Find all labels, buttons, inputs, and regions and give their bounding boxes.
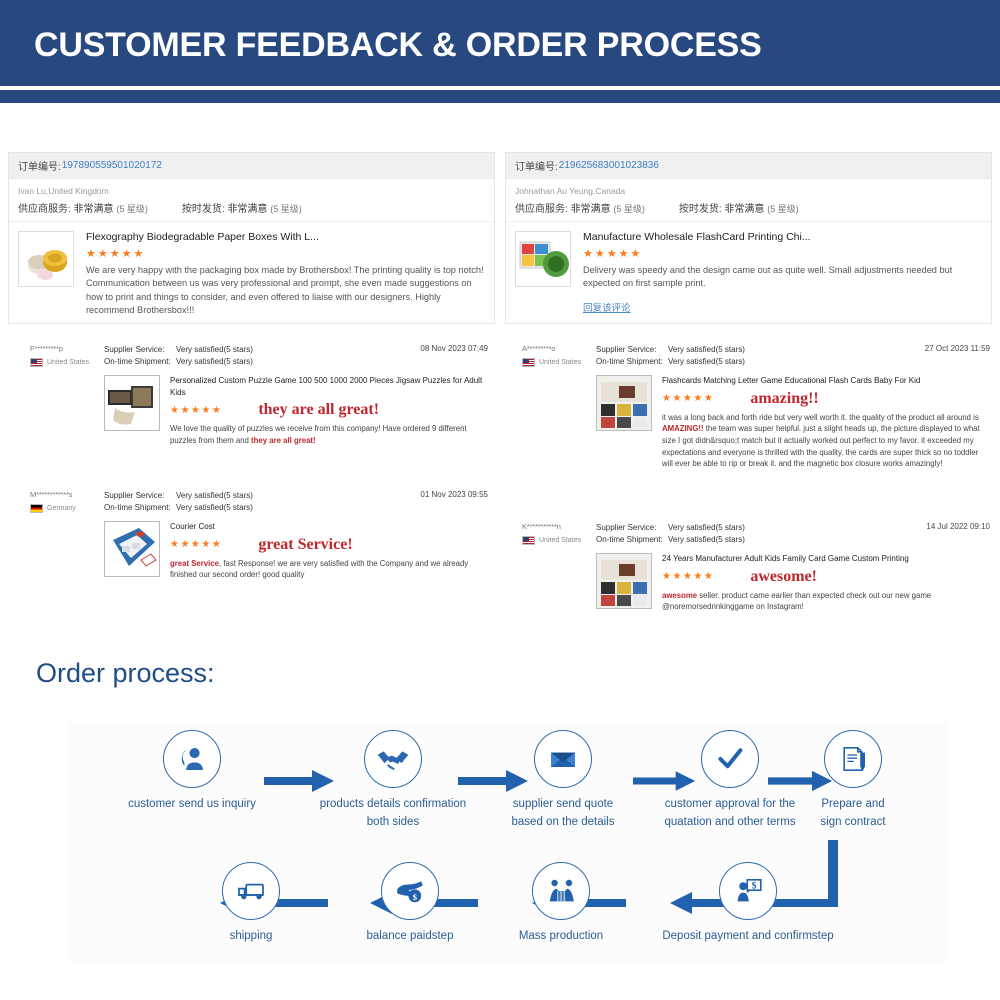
- review-body-highlight: great Service: [170, 559, 219, 568]
- review-headline: awesome!: [750, 568, 817, 586]
- product-title[interactable]: 24 Years Manufacturer Adult Kids Family …: [662, 553, 990, 565]
- process-step-label: Prepare and sign contract: [773, 795, 933, 832]
- on-time-shipment-label: On-time Shipment:: [104, 356, 176, 368]
- order-review-panel: 订单编号: 197890559501020172 Ivan Lu,United …: [8, 152, 495, 324]
- hand-money-icon: $: [381, 862, 439, 920]
- review-text: We are very happy with the packaging box…: [86, 264, 485, 317]
- process-step-label: products details confirmation both sides: [298, 795, 488, 832]
- on-time-shipment-value: 非常满意: [724, 204, 764, 215]
- flag-icon-de: [30, 504, 43, 513]
- reviewer-username: K***********n: [522, 522, 596, 531]
- supplier-service-label: Supplier Service:: [104, 344, 176, 356]
- svg-text:$: $: [752, 881, 757, 892]
- reviewer-username: A*********o: [522, 344, 596, 353]
- panel-meta: Ivan Lu,United Kingdom 供应商服务: 非常满意 (5 星级…: [9, 179, 494, 222]
- review-body-highlight: awesome: [662, 591, 697, 600]
- product-title[interactable]: Flashcards Matching Letter Game Educatio…: [662, 375, 990, 387]
- rating-stars: ★★★★★: [170, 405, 222, 416]
- review-headline: they are all great!: [258, 401, 379, 419]
- on-time-shipment-rating: 按时发货: 非常满意 (5 星级): [679, 200, 799, 215]
- supplier-service-label: Supplier Service:: [596, 344, 668, 356]
- reviewer-name: Johnathan Au Yeung,Canada: [515, 186, 982, 196]
- review-body: great Service, fast Response! we are ver…: [170, 558, 488, 581]
- supplier-service-label: 供应商服务:: [18, 204, 71, 215]
- product-thumbnail[interactable]: [515, 231, 571, 287]
- process-step-label: balance paidstep: [340, 927, 480, 945]
- order-process-title: Order process:: [36, 658, 215, 689]
- review-body: it was a long back and forth ride but ve…: [662, 412, 990, 470]
- review-card: M************s Germany Supplier Service:…: [8, 490, 488, 581]
- rating-labels: Supplier Service: On-time Shipment:: [596, 344, 668, 368]
- reviewer-username: F*********p: [30, 344, 104, 353]
- product-thumbnail[interactable]: [596, 553, 652, 609]
- supplier-service-label: Supplier Service:: [104, 490, 176, 502]
- process-step-3[interactable]: supplier send quote based on the details: [478, 730, 648, 832]
- on-time-shipment-value: Very satisfied(5 stars): [668, 356, 925, 368]
- order-number-header: 订单编号: 219625683001023836: [506, 153, 991, 179]
- factory-production-icon: [532, 862, 590, 920]
- rating-labels: Supplier Service: On-time Shipment:: [104, 490, 176, 514]
- process-step-label: shipping: [186, 927, 316, 945]
- reviewer-block: K***********n United States: [500, 522, 596, 546]
- deposit-payment-icon: $: [719, 862, 777, 920]
- review-card: A*********o United States Supplier Servi…: [500, 344, 990, 470]
- rating-labels: Supplier Service: On-time Shipment:: [104, 344, 176, 368]
- on-time-shipment-value: Very satisfied(5 stars): [176, 502, 420, 514]
- reviewer-block: M************s Germany: [8, 490, 104, 514]
- reviewer-country: Germany: [47, 505, 76, 512]
- rating-stars: ★★★★★: [662, 571, 714, 582]
- reviewer-name: Ivan Lu,United Kingdom: [18, 186, 485, 196]
- on-time-shipment-rating: 按时发货: 非常满意 (5 星级): [182, 200, 302, 215]
- rating-stars: ★★★★★: [86, 247, 485, 260]
- on-time-shipment-label: On-time Shipment:: [596, 534, 668, 546]
- rating-stars: ★★★★★: [583, 247, 982, 260]
- process-step-label: Deposit payment and confirmstep: [633, 927, 863, 945]
- customer-support-icon: [163, 730, 221, 788]
- review-body-highlight: they are all great!: [251, 436, 316, 445]
- on-time-shipment-label: 按时发货:: [679, 204, 722, 215]
- review-body-post: seller. product came earlier than expect…: [662, 591, 931, 612]
- review-date: 08 Nov 2023 07:49: [420, 344, 488, 368]
- review-body-post: the team was super helpful. just a sligh…: [662, 424, 980, 468]
- rating-stars: ★★★★★: [170, 539, 222, 550]
- on-time-shipment-value: 非常满意: [227, 204, 267, 215]
- product-title[interactable]: Courier Cost: [170, 521, 488, 533]
- rating-values: Very satisfied(5 stars) Very satisfied(5…: [668, 344, 925, 368]
- supplier-service-value: 非常满意: [571, 204, 611, 215]
- on-time-shipment-label: On-time Shipment:: [104, 502, 176, 514]
- envelope-icon: [534, 730, 592, 788]
- product-thumbnail[interactable]: [104, 521, 160, 577]
- process-step-1[interactable]: customer send us inquiry: [112, 730, 272, 813]
- review-body-highlight: AMAZING!!: [662, 424, 704, 433]
- flag-icon-us: [522, 536, 535, 545]
- supplier-service-value: Very satisfied(5 stars): [176, 344, 420, 356]
- reviewer-country: United States: [539, 359, 581, 366]
- process-step-label: customer send us inquiry: [112, 795, 272, 813]
- review-date: 14 Jul 2022 09:10: [926, 522, 990, 546]
- svg-text:$: $: [413, 892, 418, 902]
- review-headline: great Service!: [258, 536, 352, 554]
- order-number-label: 订单编号:: [18, 158, 61, 173]
- order-review-panel: 订单编号: 219625683001023836 Johnathan Au Ye…: [505, 152, 992, 324]
- checkmark-icon: [701, 730, 759, 788]
- process-step-5[interactable]: Prepare and sign contract: [773, 730, 933, 832]
- on-time-shipment-label: On-time Shipment:: [596, 356, 668, 368]
- rating-labels: Supplier Service: On-time Shipment:: [596, 522, 668, 546]
- on-time-shipment-value: Very satisfied(5 stars): [176, 356, 420, 368]
- truck-icon: [222, 862, 280, 920]
- review-date: 01 Nov 2023 09:55: [420, 490, 488, 514]
- reviewer-block: A*********o United States: [500, 344, 596, 368]
- product-title[interactable]: Flexography Biodegradable Paper Boxes Wi…: [86, 231, 485, 243]
- review-body-pre: it was a long back and forth ride but ve…: [662, 413, 979, 422]
- order-number-header: 订单编号: 197890559501020172: [9, 153, 494, 179]
- reviewer-country: United States: [47, 359, 89, 366]
- contract-document-icon: [824, 730, 882, 788]
- supplier-service-stars: (5 星级): [116, 204, 148, 214]
- supplier-service-rating: 供应商服务: 非常满意 (5 星级): [18, 200, 148, 215]
- review-cards: F*********p United States Supplier Servi…: [0, 338, 1000, 638]
- panel-meta: Johnathan Au Yeung,Canada 供应商服务: 非常满意 (5…: [506, 179, 991, 222]
- supplier-service-stars: (5 星级): [613, 204, 645, 214]
- review-headline: amazing!!: [750, 390, 818, 408]
- process-step-8[interactable]: $ balance paidstep: [340, 862, 480, 945]
- supplier-service-value: Very satisfied(5 stars): [668, 344, 925, 356]
- product-thumbnail[interactable]: [18, 231, 74, 287]
- review-body: awesome seller. product came earlier tha…: [662, 590, 990, 613]
- supplier-service-rating: 供应商服务: 非常满意 (5 星级): [515, 200, 645, 215]
- rating-values: Very satisfied(5 stars) Very satisfied(5…: [668, 522, 926, 546]
- review-body: We love the quality of puzzles we receiv…: [170, 423, 488, 446]
- supplier-service-label: 供应商服务:: [515, 204, 568, 215]
- flag-icon-us: [522, 358, 535, 367]
- supplier-service-label: Supplier Service:: [596, 522, 668, 534]
- process-step-7[interactable]: Mass production: [486, 862, 636, 945]
- order-number-value: 219625683001023836: [559, 160, 659, 171]
- reviewer-username: M************s: [30, 490, 104, 499]
- supplier-service-value: 非常满意: [74, 204, 114, 215]
- process-step-9[interactable]: shipping: [186, 862, 316, 945]
- reply-review-link[interactable]: 回复该评论: [583, 300, 631, 314]
- review-card: F*********p United States Supplier Servi…: [8, 344, 488, 447]
- order-review-panels: 订单编号: 197890559501020172 Ivan Lu,United …: [0, 152, 1000, 324]
- product-title[interactable]: Personalized Custom Puzzle Game 100 500 …: [170, 375, 488, 398]
- page-title: CUSTOMER FEEDBACK & ORDER PROCESS: [34, 26, 762, 65]
- rating-stars: ★★★★★: [662, 393, 714, 404]
- on-time-shipment-label: 按时发货:: [182, 204, 225, 215]
- on-time-shipment-stars: (5 星级): [767, 204, 799, 214]
- flag-icon-us: [30, 358, 43, 367]
- review-card: K***********n United States Supplier Ser…: [500, 522, 990, 613]
- product-thumbnail[interactable]: [104, 375, 160, 431]
- review-text: Delivery was speedy and the design came …: [583, 264, 982, 291]
- process-step-6[interactable]: $ Deposit payment and confirmstep: [633, 862, 863, 945]
- supplier-service-value: Very satisfied(5 stars): [176, 490, 420, 502]
- reviewer-block: F*********p United States: [8, 344, 104, 368]
- on-time-shipment-stars: (5 星级): [270, 204, 302, 214]
- order-number-label: 订单编号:: [515, 158, 558, 173]
- header-accent-rule: [0, 90, 1000, 103]
- product-title[interactable]: Manufacture Wholesale FlashCard Printing…: [583, 231, 982, 243]
- process-step-label: supplier send quote based on the details: [478, 795, 648, 832]
- process-step-label: Mass production: [486, 927, 636, 945]
- product-thumbnail[interactable]: [596, 375, 652, 431]
- rating-values: Very satisfied(5 stars) Very satisfied(5…: [176, 490, 420, 514]
- order-process-diagram: customer send us inquiry products detail…: [68, 722, 948, 962]
- on-time-shipment-value: Very satisfied(5 stars): [668, 534, 926, 546]
- rating-values: Very satisfied(5 stars) Very satisfied(5…: [176, 344, 420, 368]
- order-number-value: 197890559501020172: [62, 160, 162, 171]
- reviewer-country: United States: [539, 537, 581, 544]
- supplier-service-value: Very satisfied(5 stars): [668, 522, 926, 534]
- handshake-icon: [364, 730, 422, 788]
- review-date: 27 Oct 2023 11:59: [925, 344, 990, 368]
- review-body-pre: We love the quality of puzzles we receiv…: [170, 424, 467, 445]
